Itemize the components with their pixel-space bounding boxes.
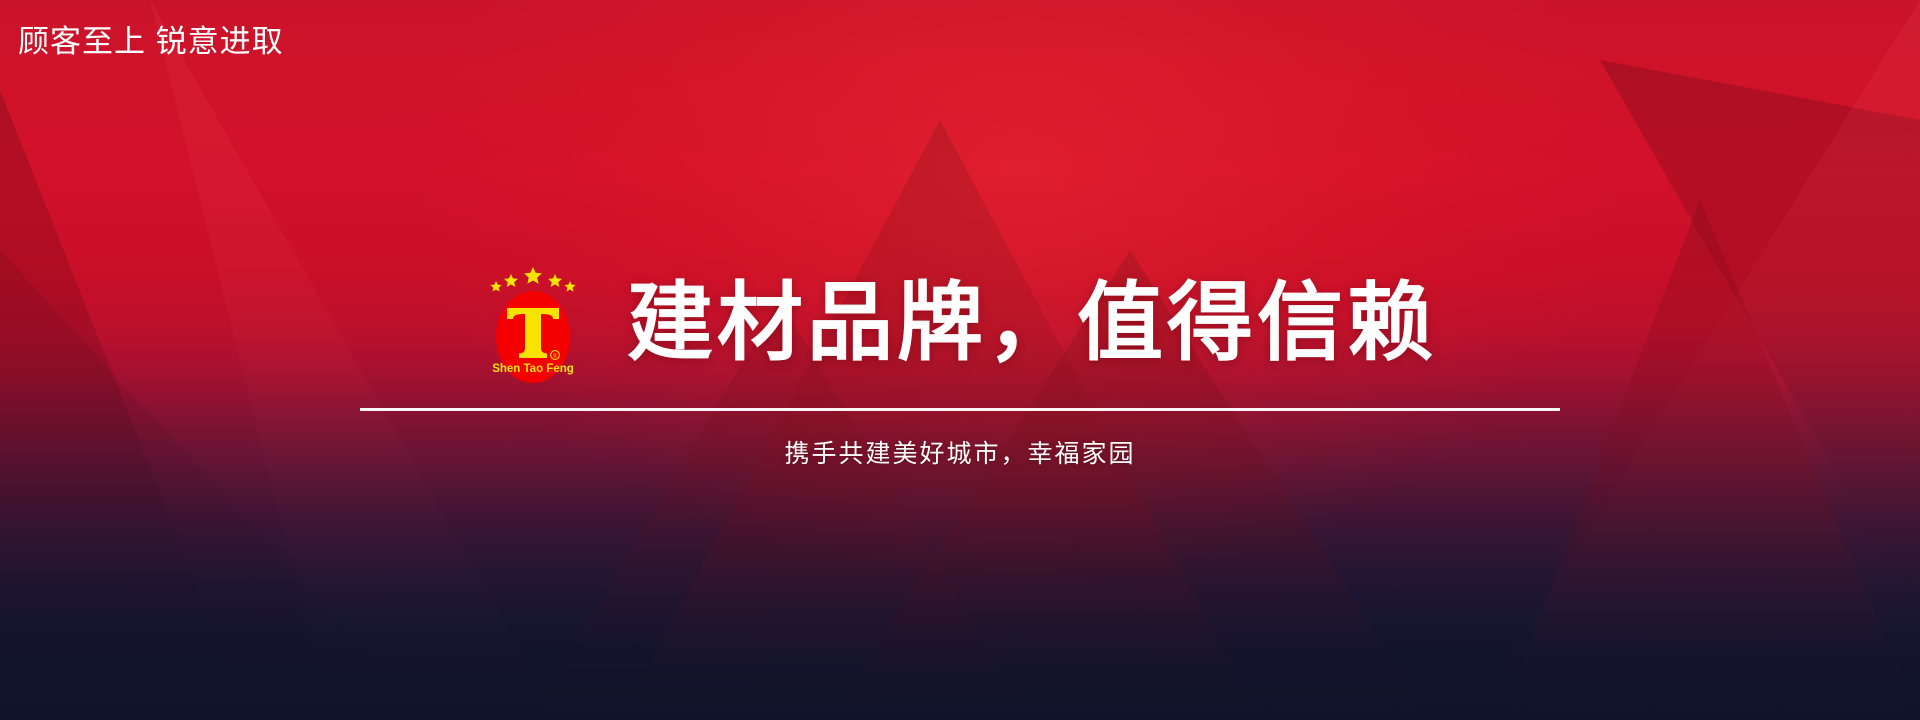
hero-row: R Shen Tao Feng 建材品牌，值得信赖 xyxy=(483,262,1437,386)
promo-banner: 顾客至上 锐意进取 xyxy=(0,0,1920,720)
brand-logo-svg: R Shen Tao Feng xyxy=(483,262,583,386)
hero-block: R Shen Tao Feng 建材品牌，值得信赖 携手共建美好城市，幸福家园 xyxy=(0,262,1920,470)
hero-headline: 建材品牌，值得信赖 xyxy=(627,280,1437,368)
hero-subtitle: 携手共建美好城市，幸福家园 xyxy=(784,434,1135,470)
brand-logo: R Shen Tao Feng xyxy=(483,262,583,386)
hero-divider xyxy=(360,408,1560,411)
registered-glyph: R xyxy=(553,354,557,360)
corner-slogan: 顾客至上 锐意进取 xyxy=(18,26,284,57)
logo-stars xyxy=(490,267,575,292)
logo-brand-text: Shen Tao Feng xyxy=(492,363,574,375)
